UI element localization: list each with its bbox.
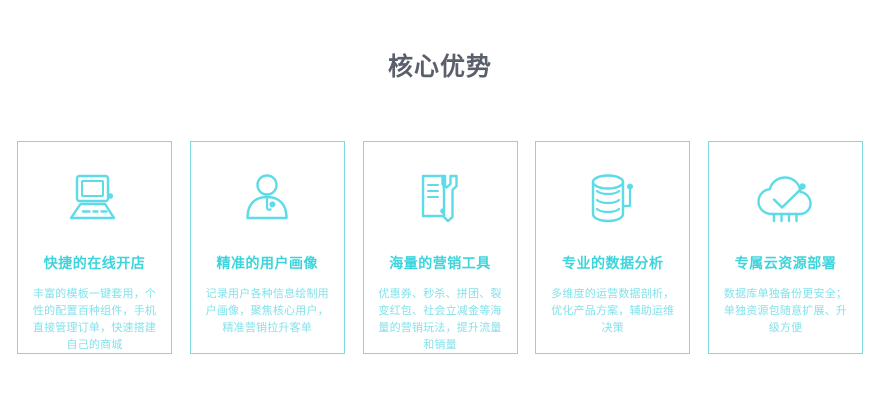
advantage-card-marketing-tools[interactable]: 海量的营销工具 优惠券、秒杀、拼团、裂变红包、社会立减金等海量的营销玩法，提升流… bbox=[363, 141, 518, 354]
advantage-card-description: 优惠券、秒杀、拼团、裂变红包、社会立减金等海量的营销玩法，提升流量和销量 bbox=[375, 285, 506, 353]
advantage-card-description: 记录用户各种信息绘制用户画像，聚焦核心用户，精准营销拉升客单 bbox=[202, 285, 333, 336]
advantage-card-title: 专业的数据分析 bbox=[562, 255, 664, 273]
core-advantages-section: 核心优势 快捷的在线开店 丰富的模板一键套用，个性的配置百种组件，手机直接管理订… bbox=[0, 0, 880, 402]
advantage-card-description: 丰富的模板一键套用，个性的配置百种组件，手机直接管理订单，快速搭建自己的商城 bbox=[29, 285, 160, 353]
database-icon bbox=[581, 170, 645, 228]
advantage-card-user-profile[interactable]: 精准的用户画像 记录用户各种信息绘制用户画像，聚焦核心用户，精准营销拉升客单 bbox=[190, 141, 345, 354]
advantage-card-list: 快捷的在线开店 丰富的模板一键套用，个性的配置百种组件，手机直接管理订单，快速搭… bbox=[17, 141, 863, 355]
user-profile-icon bbox=[235, 170, 299, 228]
advantage-card-online-store[interactable]: 快捷的在线开店 丰富的模板一键套用，个性的配置百种组件，手机直接管理订单，快速搭… bbox=[17, 141, 172, 354]
cloud-check-icon bbox=[754, 170, 818, 228]
advantage-card-description: 数据库单独备份更安全；单独资源包随意扩展、升级方便 bbox=[720, 285, 851, 336]
laptop-icon bbox=[63, 170, 127, 228]
advantage-card-title: 海量的营销工具 bbox=[389, 255, 491, 273]
advantage-card-data-analysis[interactable]: 专业的数据分析 多维度的运营数据剖析，优化产品方案，辅助运维决策 bbox=[535, 141, 690, 354]
advantage-card-cloud-deploy[interactable]: 专属云资源部署 数据库单独备份更安全；单独资源包随意扩展、升级方便 bbox=[708, 141, 863, 354]
advantage-card-title: 精准的用户画像 bbox=[217, 255, 319, 273]
advantage-card-description: 多维度的运营数据剖析，优化产品方案，辅助运维决策 bbox=[547, 285, 678, 336]
document-wrench-icon bbox=[408, 170, 472, 228]
advantage-card-title: 专属云资源部署 bbox=[735, 255, 837, 273]
advantage-card-title: 快捷的在线开店 bbox=[44, 255, 146, 273]
page-title: 核心优势 bbox=[0, 50, 880, 84]
